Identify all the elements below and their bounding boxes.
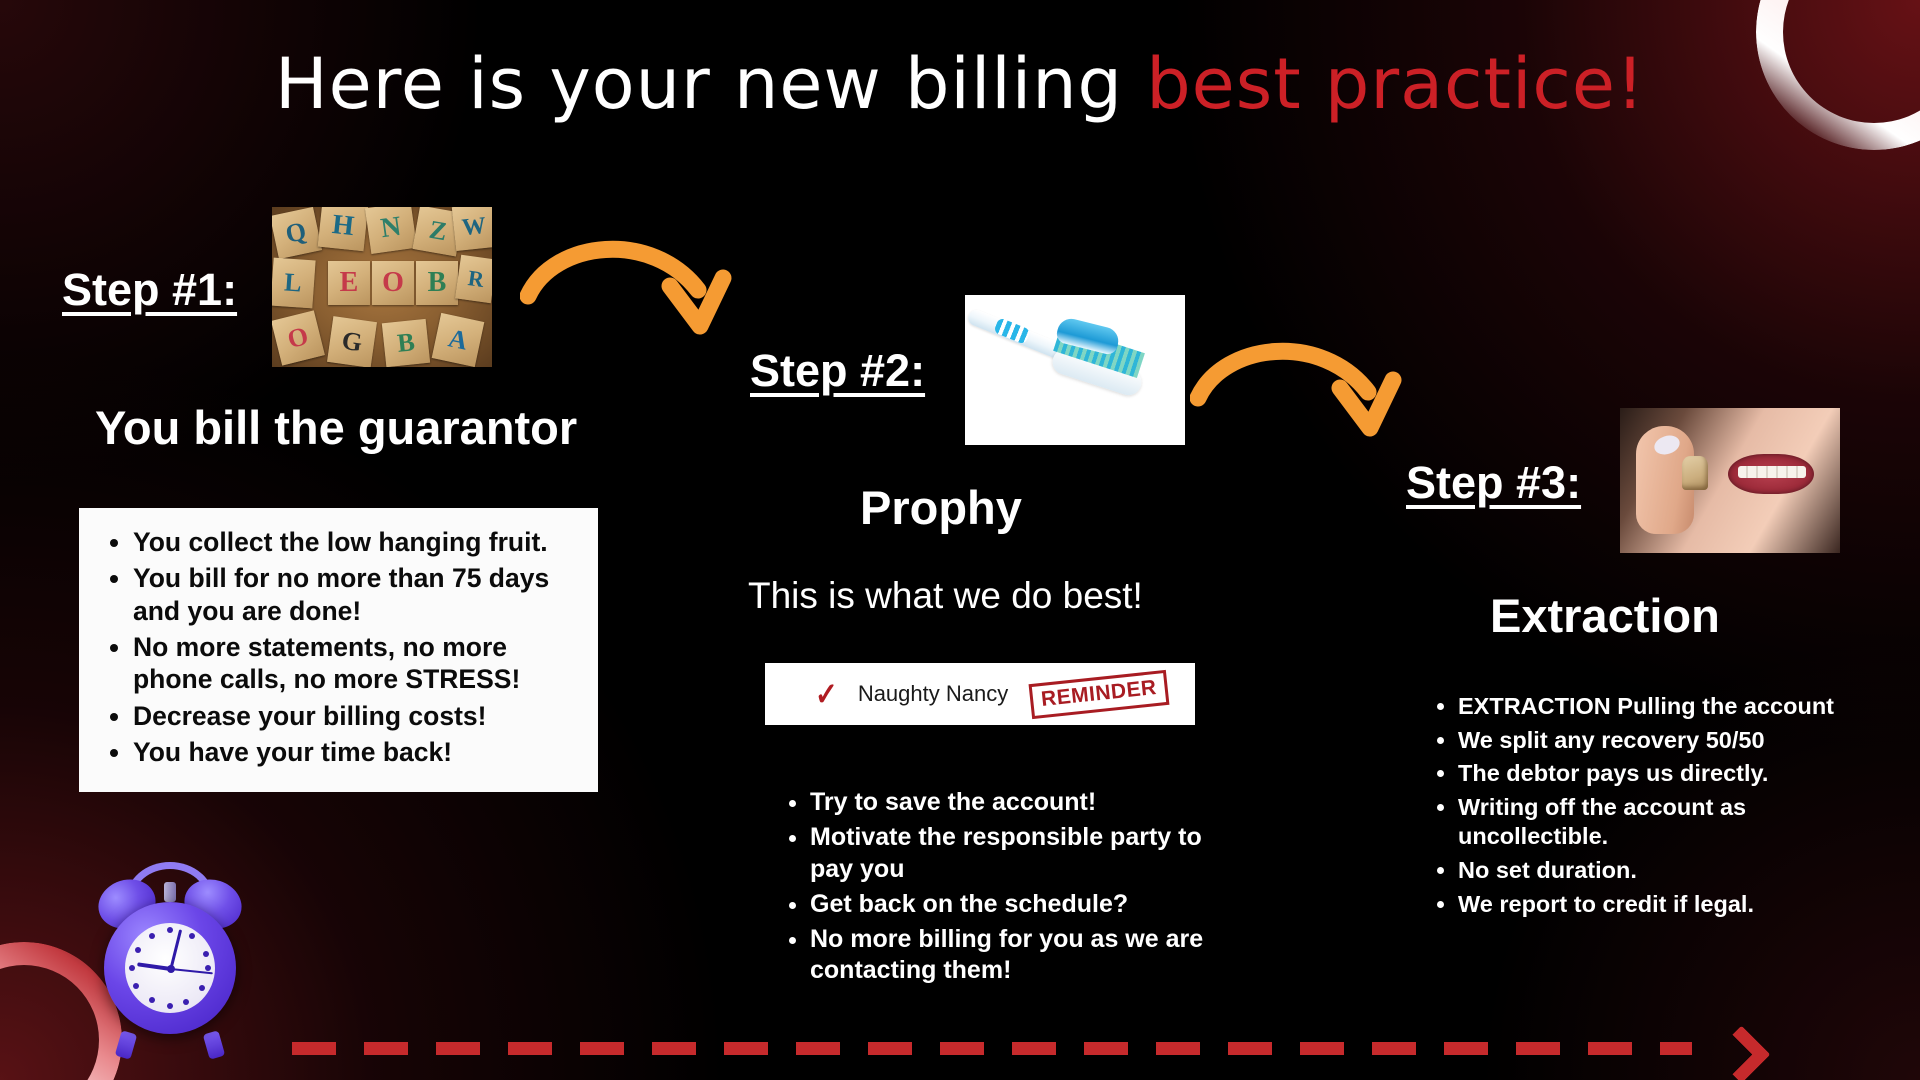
list-item: No more billing for you as we are contac… [810, 924, 1210, 987]
step-3-bullet-list: EXTRACTION Pulling the account We split … [1418, 692, 1848, 919]
step-3-label: Step #3: [1406, 457, 1581, 509]
red-dashed-progress-arrow [292, 1028, 1772, 1068]
purple-alarm-clock-graphic [96, 858, 244, 1058]
step-2-bullet-list: Try to save the account! Motivate the re… [770, 787, 1210, 987]
list-item: Motivate the responsible party to pay yo… [810, 822, 1210, 885]
reminder-stamp-badge: REMINDER [1029, 669, 1170, 718]
list-item: You bill for no more than 75 days and yo… [133, 562, 582, 627]
list-item: EXTRACTION Pulling the account [1458, 692, 1848, 722]
step-1-label: Step #1: [62, 264, 237, 316]
list-item: You have your time back! [133, 736, 582, 768]
step-2-bullet-box: Try to save the account! Motivate the re… [770, 787, 1210, 991]
page-title: Here is your new billing best practice! [0, 48, 1920, 122]
step-3-heading: Extraction [1490, 588, 1720, 643]
eob-letter-blocks-photo: Q H N Z W L E O B R O G B A [272, 207, 492, 367]
dashed-line [292, 1042, 1692, 1055]
step-2-label: Step #2: [750, 345, 925, 397]
step-2-subheading: This is what we do best! [748, 575, 1143, 617]
step-1-heading: You bill the guarantor [95, 400, 577, 455]
reminder-contact-name: Naughty Nancy [858, 681, 1008, 707]
red-check-icon: ✓ [815, 678, 838, 710]
page-title-white-part: Here is your new billing [275, 43, 1146, 125]
arrowhead-icon [1713, 1026, 1771, 1080]
step-1-bullet-list: You collect the low hanging fruit. You b… [87, 526, 582, 768]
orange-curved-arrow-step1-to-step2 [520, 228, 750, 368]
list-item: No more statements, no more phone calls,… [133, 631, 582, 696]
step-1-bullet-box: You collect the low hanging fruit. You b… [79, 508, 598, 792]
step-2-heading: Prophy [860, 480, 1022, 535]
step-3-bullet-box: EXTRACTION Pulling the account We split … [1418, 692, 1848, 923]
list-item: The debtor pays us directly. [1458, 759, 1848, 789]
toothbrush-with-toothpaste-photo [965, 295, 1185, 445]
list-item: We report to credit if legal. [1458, 890, 1848, 920]
orange-curved-arrow-step2-to-step3 [1190, 330, 1420, 470]
list-item: Get back on the schedule? [810, 889, 1210, 920]
slide-canvas: Here is your new billing best practice! … [0, 0, 1920, 1080]
list-item: Decrease your billing costs! [133, 700, 582, 732]
naughty-nancy-reminder-graphic: ✓ Naughty Nancy REMINDER [765, 663, 1195, 725]
list-item: Writing off the account as uncollectible… [1458, 793, 1848, 852]
list-item: You collect the low hanging fruit. [133, 526, 582, 558]
page-title-red-part: best practice! [1146, 43, 1645, 125]
list-item: We split any recovery 50/50 [1458, 726, 1848, 756]
list-item: No set duration. [1458, 856, 1848, 886]
list-item: Try to save the account! [810, 787, 1210, 818]
extracted-tooth-held-by-hand-photo [1620, 408, 1840, 553]
